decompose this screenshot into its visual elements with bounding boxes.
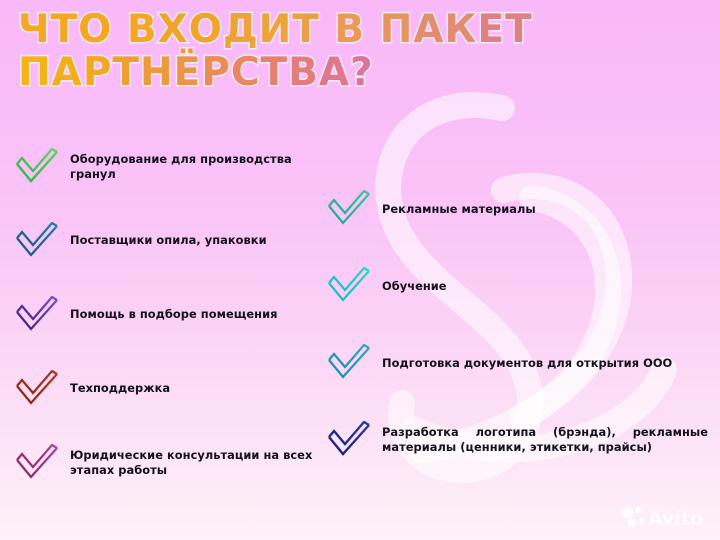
list-item: Юридические консультации на всех этапах … xyxy=(14,444,314,488)
list-item-label: Помощь в подборе помещения xyxy=(70,296,277,322)
right-feature-list: Рекламные материалы Обучение xyxy=(326,190,708,465)
check-documents-icon xyxy=(326,344,372,388)
title-line-1: ЧТО ВХОДИТ В ПАКЕТ xyxy=(18,8,658,51)
list-item-label: Юридические консультации на всех этапах … xyxy=(70,444,314,477)
list-item-label: Оборудование для производства гранул xyxy=(70,148,314,181)
list-item-label: Рекламные материалы xyxy=(382,190,536,217)
check-legal-icon xyxy=(14,444,60,488)
list-item: Техподдержка xyxy=(14,370,314,414)
list-item-label: Техподдержка xyxy=(70,370,170,396)
avito-watermark: Avito xyxy=(620,504,708,530)
page-title: ЧТО ВХОДИТ В ПАКЕТ ПАРТНЁРСТВА? xyxy=(18,8,658,94)
check-branding-icon xyxy=(326,421,372,465)
list-item-label: Подготовка документов для открытия ООО xyxy=(382,344,672,371)
check-training-icon xyxy=(326,267,372,311)
avito-logo-icon: Avito xyxy=(620,504,708,530)
list-item: Помощь в подборе помещения xyxy=(14,296,314,340)
check-ad-materials-icon xyxy=(326,190,372,234)
list-item-label: Разработка логотипа (брэнда), рекламные … xyxy=(382,421,708,454)
list-item: Подготовка документов для открытия ООО xyxy=(326,344,708,388)
title-line-2: ПАРТНЁРСТВА? xyxy=(18,51,658,94)
poster-canvas: ЧТО ВХОДИТ В ПАКЕТ ПАРТНЁРСТВА? Оборудов… xyxy=(0,0,720,540)
list-item: Рекламные материалы xyxy=(326,190,708,234)
avito-wordmark: Avito xyxy=(648,508,703,530)
list-item: Оборудование для производства гранул xyxy=(14,148,314,192)
list-item: Разработка логотипа (брэнда), рекламные … xyxy=(326,421,708,465)
check-premises-icon xyxy=(14,296,60,340)
check-equipment-icon xyxy=(14,148,60,192)
list-item-label: Обучение xyxy=(382,267,447,294)
check-suppliers-icon xyxy=(14,222,60,266)
left-feature-list: Оборудование для производства гранул Пос… xyxy=(14,148,314,488)
list-item: Поставщики опила, упаковки xyxy=(14,222,314,266)
list-item-label: Поставщики опила, упаковки xyxy=(70,222,267,248)
list-item: Обучение xyxy=(326,267,708,311)
check-techsupport-icon xyxy=(14,370,60,414)
